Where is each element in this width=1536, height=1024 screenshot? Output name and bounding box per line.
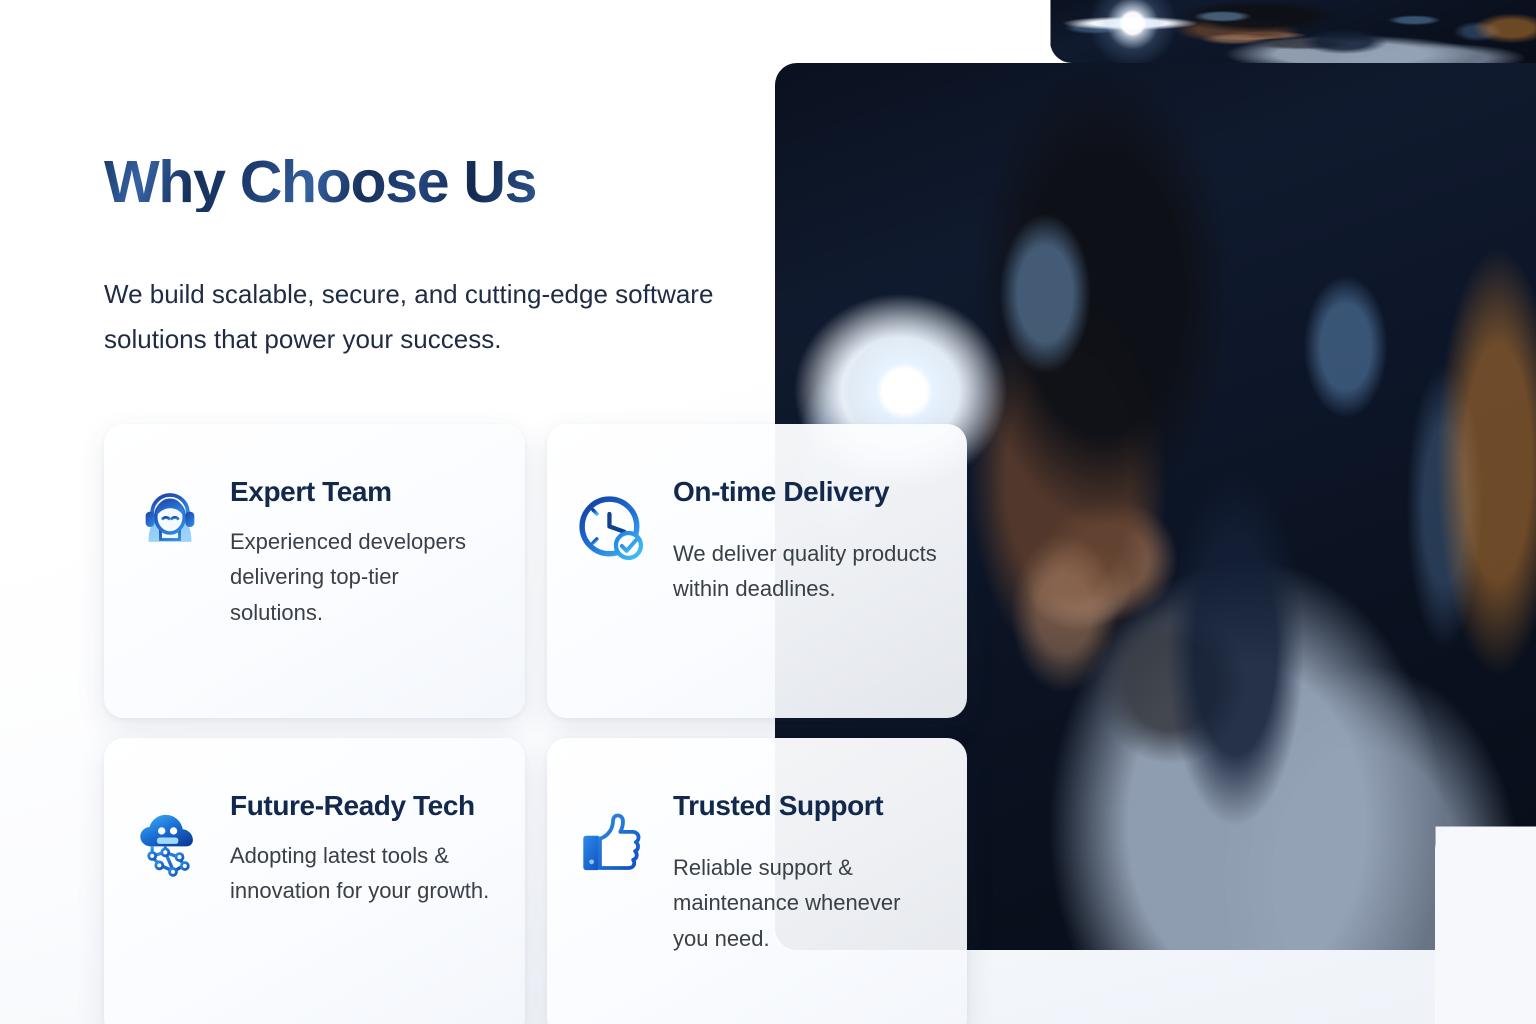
content-column: Why Choose Us We build scalable, secure,… xyxy=(0,0,1000,1024)
card-text: Trusted Support Reliable support & maint… xyxy=(673,778,939,1016)
photo-upper-block xyxy=(1050,0,1536,63)
card-description: Adopting latest tools & innovation for y… xyxy=(230,838,497,909)
why-choose-us-section: Why Choose Us We build scalable, secure,… xyxy=(0,0,1536,1024)
card-title: Future-Ready Tech xyxy=(230,788,497,824)
card-title: On-time Delivery xyxy=(673,474,939,510)
thumbs-up-icon xyxy=(575,806,655,1016)
card-text: Future-Ready Tech Adopting latest tools … xyxy=(230,778,497,1016)
card-description: Experienced developers delivering top-ti… xyxy=(230,524,497,631)
card-title: Trusted Support xyxy=(673,788,939,824)
headset-agent-icon xyxy=(132,492,212,696)
photo-notch-bottom-right xyxy=(1435,827,1536,1024)
card-description: Reliable support & maintenance whenever … xyxy=(673,850,939,957)
page-title: Why Choose Us xyxy=(104,153,536,212)
clock-check-icon xyxy=(575,492,655,696)
feature-card-expert-team[interactable]: Expert Team Experienced developers deliv… xyxy=(104,424,525,718)
cloud-ai-network-icon xyxy=(132,806,212,1016)
feature-card-on-time-delivery[interactable]: On-time Delivery We deliver quality prod… xyxy=(547,424,967,718)
feature-card-future-ready-tech[interactable]: Future-Ready Tech Adopting latest tools … xyxy=(104,738,525,1024)
section-subtitle: We build scalable, secure, and cutting-e… xyxy=(104,272,754,361)
card-description: We deliver quality products within deadl… xyxy=(673,536,939,607)
card-title: Expert Team xyxy=(230,474,497,510)
feature-card-trusted-support[interactable]: Trusted Support Reliable support & maint… xyxy=(547,738,967,1024)
card-text: On-time Delivery We deliver quality prod… xyxy=(673,464,939,696)
card-text: Expert Team Experienced developers deliv… xyxy=(230,464,497,696)
